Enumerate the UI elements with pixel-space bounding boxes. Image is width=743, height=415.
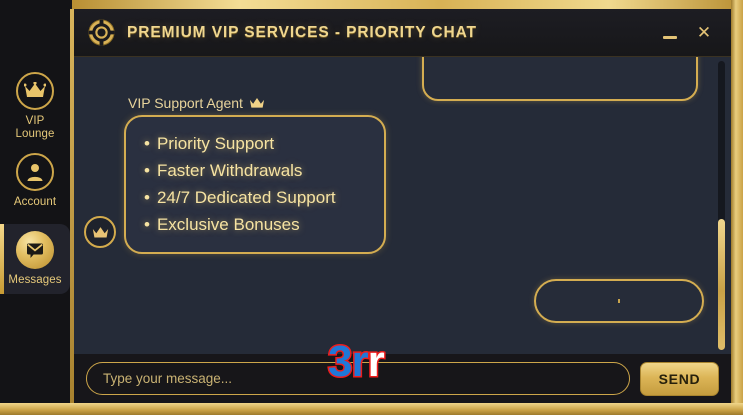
chat-message-list: VIP Support Agent Priority Support Faste… (74, 57, 731, 354)
window-frame-right (731, 0, 743, 415)
benefit-list: Priority Support Faster Withdrawals 24/7… (144, 130, 368, 238)
window-title: PREMIUM VIP SERVICES - PRIORITY CHAT (127, 24, 477, 42)
send-button[interactable]: SEND (640, 362, 719, 396)
sidebar-item-label: Account (14, 196, 56, 209)
message-bubble-agent[interactable]: Priority Support Faster Withdrawals 24/7… (124, 115, 386, 254)
window-frame-left (70, 9, 74, 403)
window-frame-top (72, 0, 743, 9)
scrollbar-thumb[interactable] (718, 219, 725, 350)
vip-chat-window: VIPLounge Account Messages (0, 0, 743, 415)
message-bubble-user-text (618, 299, 620, 303)
sidebar-item-vip-lounge[interactable]: VIPLounge (0, 70, 70, 142)
sidebar-item-messages[interactable]: Messages (0, 224, 70, 294)
list-item: Priority Support (144, 130, 368, 157)
message-input[interactable] (86, 362, 630, 395)
agent-name-label: VIP Support Agent (128, 95, 243, 111)
chat-window: PREMIUM VIP SERVICES - PRIORITY CHAT ✕ V… (74, 9, 731, 403)
agent-name-row: VIP Support Agent (128, 95, 265, 111)
sidebar-item-label: VIPLounge (16, 115, 55, 141)
user-icon (16, 153, 54, 191)
casino-chip-icon (88, 19, 115, 46)
window-frame-bottom (0, 403, 743, 415)
close-icon[interactable]: ✕ (695, 24, 713, 42)
sidebar-item-label: Messages (8, 274, 61, 287)
crown-icon (16, 72, 54, 110)
avatar (84, 216, 116, 248)
window-controls: ✕ (661, 24, 721, 42)
list-item: Exclusive Bonuses (144, 211, 368, 238)
message-bubble-user[interactable] (534, 279, 704, 323)
crown-icon (92, 226, 109, 239)
envelope-icon (16, 231, 54, 269)
sidebar: VIPLounge Account Messages (0, 0, 72, 415)
list-item: 24/7 Dedicated Support (144, 184, 368, 211)
crown-icon (249, 97, 265, 109)
title-bar: PREMIUM VIP SERVICES - PRIORITY CHAT ✕ (74, 9, 731, 57)
minimize-icon[interactable] (661, 24, 679, 42)
list-item: Faster Withdrawals (144, 157, 368, 184)
agent-message-row: Priority Support Faster Withdrawals 24/7… (84, 115, 386, 254)
sidebar-item-account[interactable]: Account (0, 150, 70, 212)
message-composer: SEND (74, 354, 731, 403)
vertical-scrollbar[interactable] (718, 61, 725, 350)
message-bubble-partial[interactable] (422, 57, 698, 101)
